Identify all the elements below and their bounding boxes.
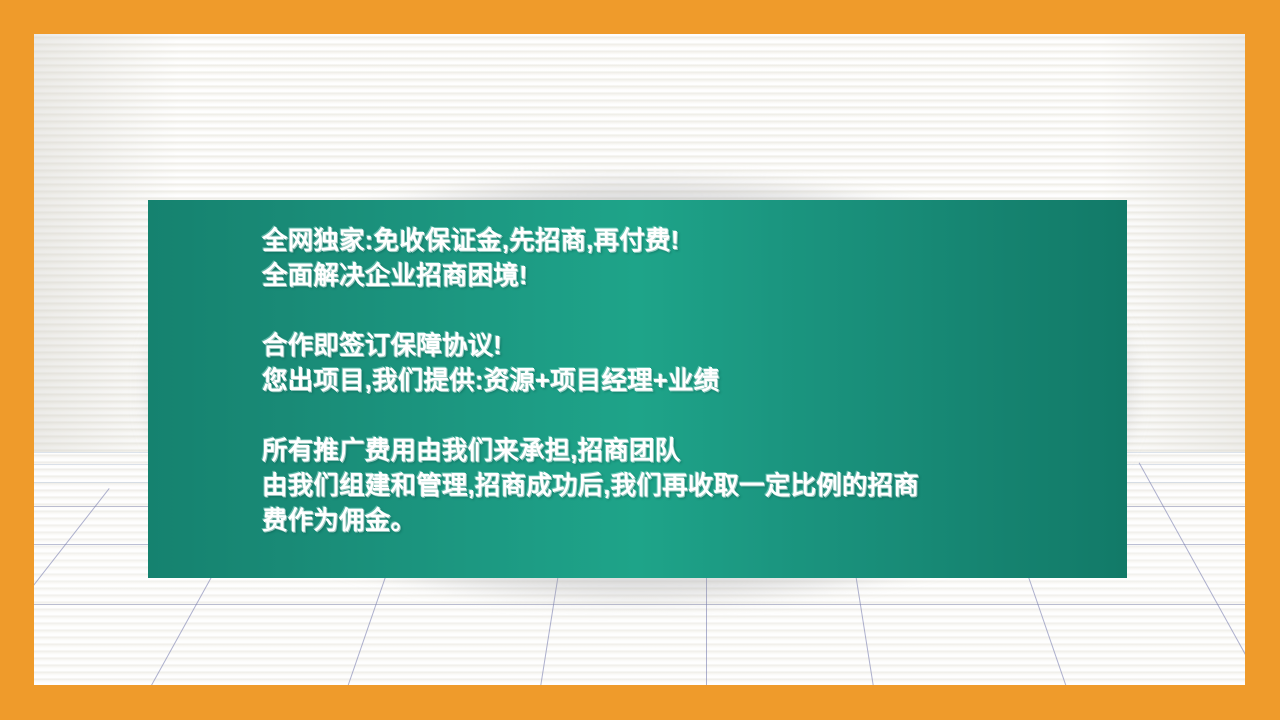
spacer-1 — [262, 294, 1127, 329]
promo-card: 全网独家:免收保证金,先招商,再付费! 全面解决企业招商困境! 合作即签订保障协… — [148, 200, 1127, 578]
promo-line-1: 全网独家:免收保证金,先招商,再付费! — [262, 224, 1127, 259]
promo-line-7: 费作为佣金。 — [262, 504, 1127, 539]
slide-canvas: 全网独家:免收保证金,先招商,再付费! 全面解决企业招商困境! 合作即签订保障协… — [0, 0, 1280, 720]
promo-block-3: 所有推广费用由我们来承担,招商团队 由我们组建和管理,招商成功后,我们再收取一定… — [262, 434, 1127, 539]
promo-line-3: 合作即签订保障协议! — [262, 329, 1127, 364]
floor-grid-vline — [34, 488, 110, 685]
promo-block-1: 全网独家:免收保证金,先招商,再付费! 全面解决企业招商困境! — [262, 224, 1127, 294]
promo-line-2: 全面解决企业招商困境! — [262, 259, 1127, 294]
promo-line-6: 由我们组建和管理,招商成功后,我们再收取一定比例的招商 — [262, 469, 1127, 504]
promo-line-5: 所有推广费用由我们来承担,招商团队 — [262, 434, 1127, 469]
promo-block-2: 合作即签订保障协议! 您出项目,我们提供:资源+项目经理+业绩 — [262, 329, 1127, 399]
floor-grid-hline — [34, 604, 1245, 605]
promo-line-4: 您出项目,我们提供:资源+项目经理+业绩 — [262, 364, 1127, 399]
spacer-2 — [262, 399, 1127, 434]
floor-grid-vline — [1139, 462, 1245, 685]
